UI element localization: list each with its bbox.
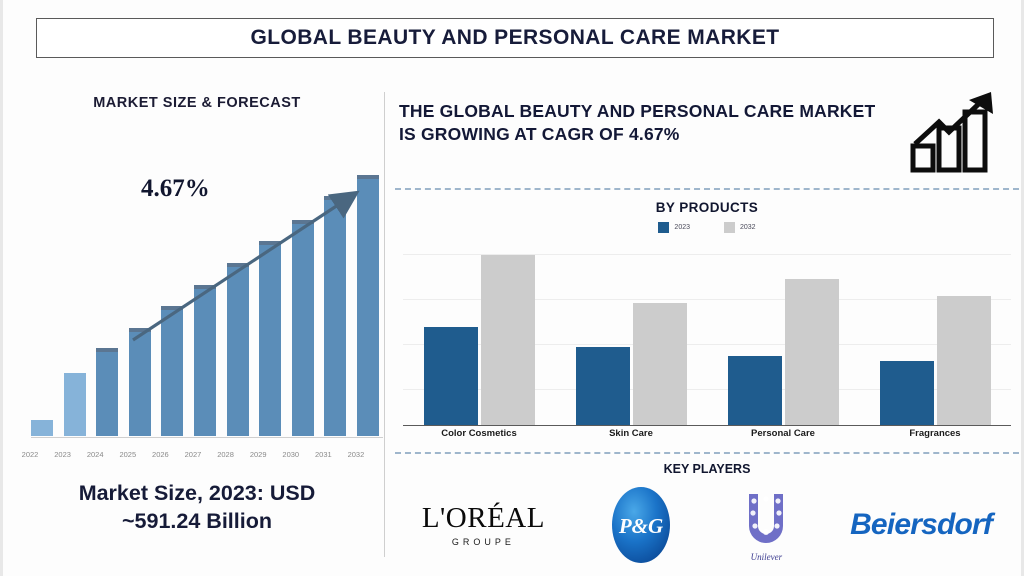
loreal-logo: L'ORÉAL GROUPE (422, 504, 545, 547)
legend-swatch (658, 222, 669, 233)
section-divider-bottom (395, 452, 1019, 454)
beiersdorf-wordmark: Beiersdorf (850, 508, 992, 542)
loreal-wordmark: L'ORÉAL (422, 504, 545, 533)
cagr-headline: THE GLOBAL BEAUTY AND PERSONAL CARE MARK… (399, 100, 894, 146)
market-size-bar (64, 373, 86, 436)
unilever-logo-icon (736, 488, 796, 550)
bar-chart-growth-icon (905, 88, 1001, 174)
legend-label: 2023 (674, 224, 690, 231)
market-size-bar (31, 420, 53, 436)
bar-group (566, 244, 696, 426)
market-size-bar (96, 348, 118, 436)
pg-logo-icon: P&G (599, 483, 683, 567)
by-products-heading: BY PRODUCTS (395, 200, 1019, 215)
panel-divider (384, 92, 385, 557)
category-label: Personal Care (718, 428, 848, 439)
legend-item[interactable]: 2023 (658, 222, 690, 233)
product-bar (785, 279, 839, 426)
legend-swatch (724, 222, 735, 233)
product-bar (880, 361, 934, 426)
year-label: 2024 (84, 450, 106, 459)
category-labels: Color CosmeticsSkin CarePersonal CareFra… (403, 428, 1011, 439)
infographic-page: GLOBAL BEAUTY AND PERSONAL CARE MARKET M… (0, 0, 1024, 576)
loreal-subtitle: GROUPE (452, 537, 515, 547)
product-bar (728, 356, 782, 426)
bar-group (414, 244, 544, 426)
grouped-bars (403, 244, 1011, 426)
year-label: 2030 (280, 450, 302, 459)
unilever-logo: Unilever (736, 488, 796, 562)
year-axis-labels: 2022202320242025202620272028202920302031… (19, 450, 367, 459)
growth-arrow-icon (11, 135, 383, 355)
category-label: Color Cosmetics (414, 428, 544, 439)
market-size-heading: MARKET SIZE & FORECAST (11, 95, 383, 111)
year-label: 2023 (52, 450, 74, 459)
category-label: Fragrances (870, 428, 1000, 439)
year-label: 2032 (345, 450, 367, 459)
year-label: 2029 (247, 450, 269, 459)
product-bar (633, 303, 687, 426)
year-label: 2026 (149, 450, 171, 459)
page-title: GLOBAL BEAUTY AND PERSONAL CARE MARKET (251, 26, 780, 50)
unilever-wordmark: Unilever (751, 552, 783, 562)
category-label: Skin Care (566, 428, 696, 439)
product-bar (481, 255, 535, 426)
beiersdorf-logo: Beiersdorf (850, 508, 992, 542)
chart-axis (31, 437, 383, 438)
pg-wordmark: P&G (617, 514, 662, 538)
year-label: 2027 (182, 450, 204, 459)
year-label: 2025 (117, 450, 139, 459)
legend-label: 2032 (740, 224, 756, 231)
key-players-heading: KEY PLAYERS (395, 462, 1019, 476)
by-products-chart (403, 244, 1011, 426)
chart-legend: 20232032 (395, 222, 1019, 233)
market-size-value: Market Size, 2023: USD ~591.24 Billion (11, 480, 383, 535)
product-bar (424, 327, 478, 426)
bar-group (870, 244, 1000, 426)
market-size-line2: ~591.24 Billion (122, 509, 272, 533)
market-size-line1: Market Size, 2023: USD (79, 481, 316, 505)
key-players-logos: L'ORÉAL GROUPE P&G (395, 482, 1019, 568)
section-divider-top (395, 188, 1019, 190)
year-label: 2031 (312, 450, 334, 459)
pg-logo: P&G (599, 483, 683, 567)
page-title-bar: GLOBAL BEAUTY AND PERSONAL CARE MARKET (36, 18, 994, 58)
legend-item[interactable]: 2032 (724, 222, 756, 233)
product-bar (576, 347, 630, 426)
bar-group (718, 244, 848, 426)
year-label: 2028 (215, 450, 237, 459)
product-bar (937, 296, 991, 426)
market-size-panel: MARKET SIZE & FORECAST 4.67% 20222023202… (11, 95, 383, 560)
year-label: 2022 (19, 450, 41, 459)
chart-baseline (403, 425, 1011, 427)
cagr-annotation-left: 4.67% (141, 175, 210, 203)
